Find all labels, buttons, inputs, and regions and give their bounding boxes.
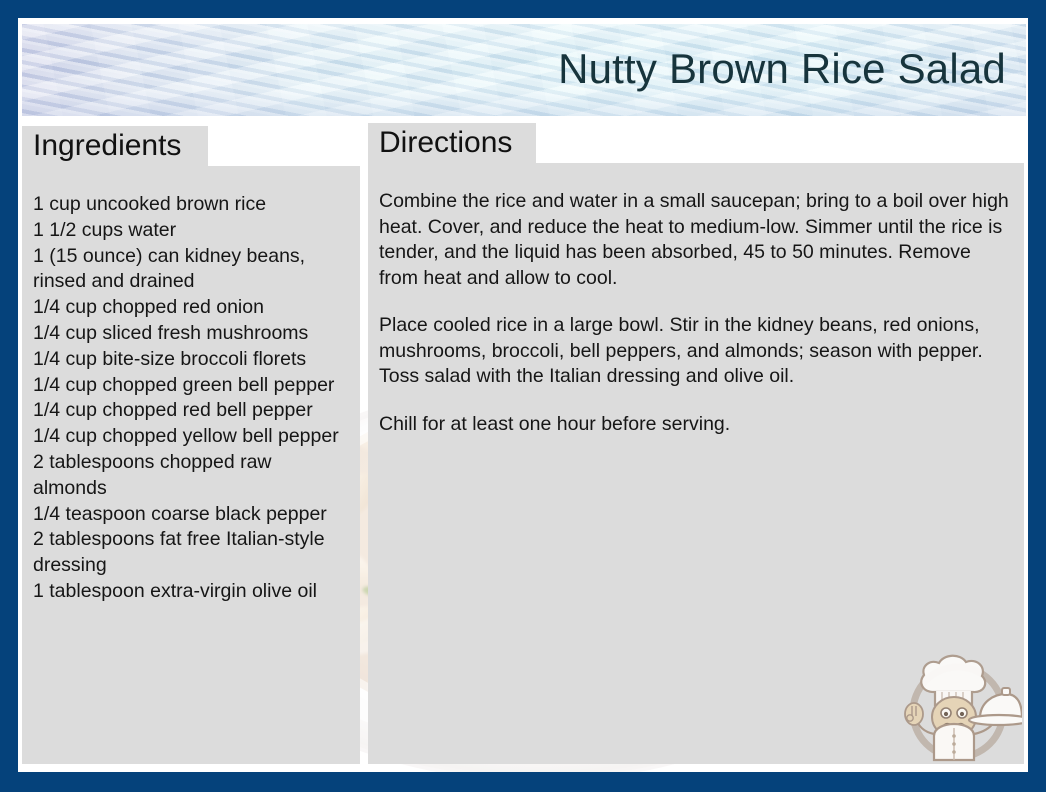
list-item: 1/4 cup chopped red onion — [33, 295, 348, 321]
ingredients-heading-tab: Ingredients — [22, 126, 208, 166]
ingredients-panel: 1 cup uncooked brown rice 1 1/2 cups wat… — [22, 166, 360, 764]
list-item: 1/4 cup sliced fresh mushrooms — [33, 321, 348, 347]
list-item: 2 tablespoons chopped raw almonds — [33, 450, 348, 502]
ingredients-list: 1 cup uncooked brown rice 1 1/2 cups wat… — [33, 192, 348, 605]
recipe-card-inner: Nutty Brown Rice Salad — [18, 18, 1028, 772]
chef-logo — [894, 644, 1022, 768]
list-item: 1/4 cup chopped green bell pepper — [33, 373, 348, 399]
list-item: 1/4 cup bite-size broccoli florets — [33, 347, 348, 373]
list-item: 1/4 teaspoon coarse black pepper — [33, 502, 348, 528]
ingredients-heading-label: Ingredients — [33, 129, 181, 163]
page-title: Nutty Brown Rice Salad — [558, 45, 1006, 93]
chef-with-cloche-icon — [894, 644, 1022, 768]
list-item: 2 tablespoons fat free Italian-style dre… — [33, 527, 348, 579]
header-banner: Nutty Brown Rice Salad — [22, 24, 1026, 116]
directions-heading-label: Directions — [379, 126, 512, 160]
list-item: 1 tablespoon extra-virgin olive oil — [33, 579, 348, 605]
list-item: 1 (15 ounce) can kidney beans, rinsed an… — [33, 244, 348, 296]
list-item: 1 cup uncooked brown rice — [33, 192, 348, 218]
list-item: 1/4 cup chopped red bell pepper — [33, 398, 348, 424]
directions-heading-tab: Directions — [368, 123, 536, 163]
directions-paragraph: Combine the rice and water in a small sa… — [379, 189, 1012, 291]
recipe-card-frame: Nutty Brown Rice Salad — [0, 0, 1046, 792]
list-item: 1 1/2 cups water — [33, 218, 348, 244]
directions-text: Combine the rice and water in a small sa… — [379, 189, 1012, 437]
directions-paragraph: Place cooled rice in a large bowl. Stir … — [379, 313, 1012, 390]
list-item: 1/4 cup chopped yellow bell pepper — [33, 424, 348, 450]
directions-paragraph: Chill for at least one hour before servi… — [379, 412, 1012, 438]
